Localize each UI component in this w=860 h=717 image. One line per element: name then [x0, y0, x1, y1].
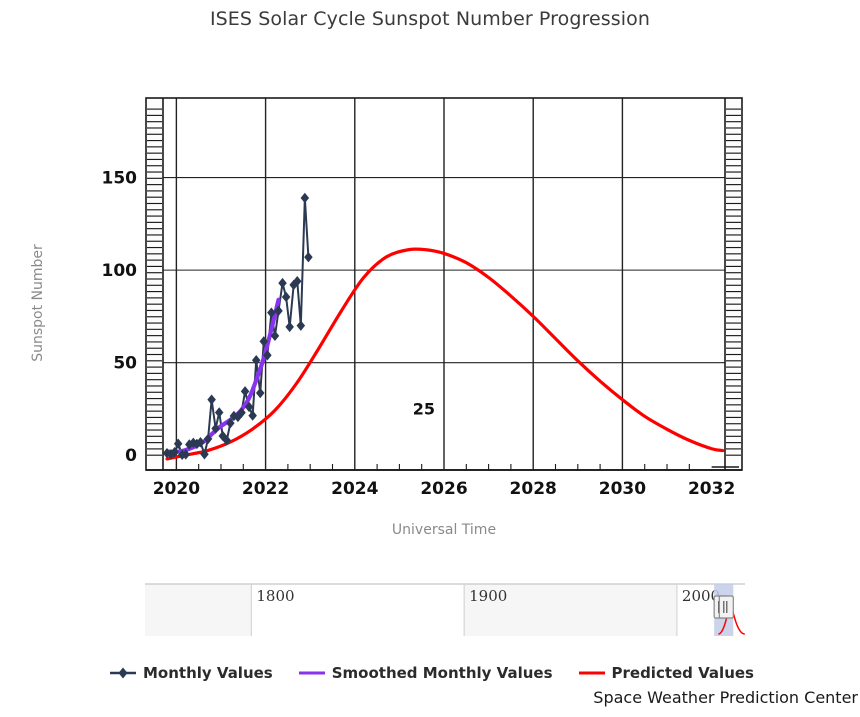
- page-title: ISES Solar Cycle Sunspot Number Progress…: [0, 8, 860, 30]
- legend-label-smoothed-monthly-values: Smoothed Monthly Values: [332, 664, 553, 682]
- credit-text: Space Weather Prediction Center: [593, 688, 858, 707]
- y-axis-ticks-right: [725, 98, 742, 470]
- smoothed-values-line-icon: [299, 666, 325, 680]
- x-axis-label: Universal Time: [163, 522, 725, 538]
- x-tick-label: 2024: [331, 479, 378, 499]
- navigator-century-label: 1800: [256, 587, 294, 605]
- y-tick-label: 0: [125, 446, 137, 466]
- ladder-band: [146, 98, 163, 470]
- predicted-values-line-icon: [579, 666, 605, 680]
- legend-item-monthly-values[interactable]: Monthly Values: [110, 664, 273, 682]
- legend-label-monthly-values: Monthly Values: [143, 664, 273, 682]
- y-axis-ticks-left: [146, 98, 163, 470]
- y-tick-label: 150: [102, 169, 138, 189]
- chart-legend: Monthly Values Smoothed Monthly Values P…: [0, 664, 860, 717]
- main-plot: Sunspot Number Universal Time 0501001502…: [0, 60, 860, 560]
- ladder-band: [725, 98, 742, 470]
- chart-page: ISES Solar Cycle Sunspot Number Progress…: [0, 0, 860, 717]
- cycle-number-annotation: 25: [413, 399, 435, 418]
- legend-label-predicted-values: Predicted Values: [612, 664, 754, 682]
- x-tick-label: 2026: [420, 479, 467, 499]
- monthly-values-marker-icon: [110, 666, 136, 680]
- legend-item-predicted-values[interactable]: Predicted Values: [579, 664, 754, 682]
- x-tick-label: 2020: [153, 479, 200, 499]
- navigator-canvas[interactable]: 180019002000: [145, 576, 745, 640]
- legend-item-smoothed-monthly-values[interactable]: Smoothed Monthly Values: [299, 664, 553, 682]
- x-tick-label: 2022: [242, 479, 289, 499]
- legend-items: Monthly Values Smoothed Monthly Values P…: [110, 664, 754, 682]
- plot-canvas: 050100150202020222024202620282030203225: [0, 60, 860, 560]
- x-tick-label: 2032: [688, 479, 735, 499]
- y-tick-label: 100: [102, 261, 138, 281]
- navigator-handle-right[interactable]: [719, 596, 733, 618]
- range-navigator[interactable]: 180019002000: [145, 576, 745, 640]
- x-tick-label: 2030: [599, 479, 646, 499]
- y-axis-label: Sunspot Number: [30, 203, 46, 403]
- navigator-century-label: 1900: [469, 587, 507, 605]
- navigator-century-band: [145, 584, 251, 636]
- x-tick-label: 2028: [510, 479, 557, 499]
- y-tick-label: 50: [113, 354, 137, 374]
